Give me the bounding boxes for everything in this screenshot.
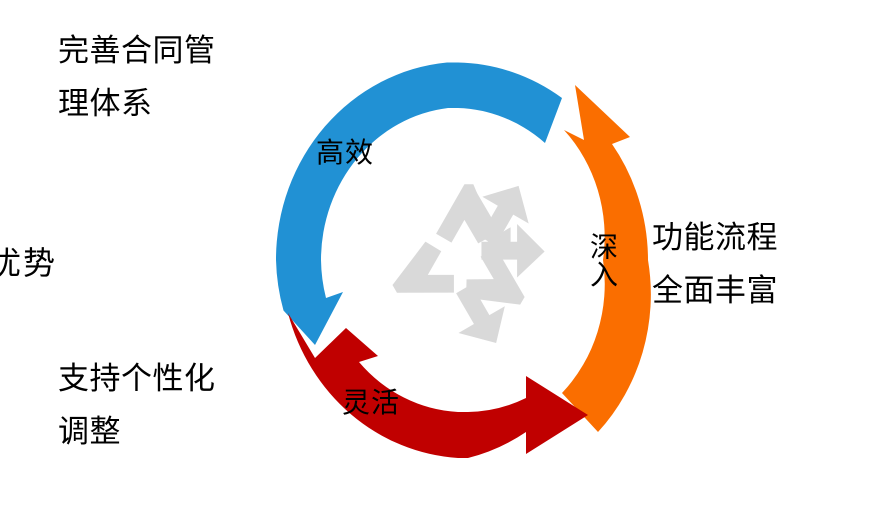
segment-label-blue: 高效 [316, 131, 374, 171]
callout-bottom-left-line-1: 支持个性化 [58, 352, 216, 405]
center-label-wrap: 优势 [0, 238, 872, 284]
callout-top-left-line-2: 理体系 [58, 77, 216, 130]
callout-bottom-left-line-2: 调整 [58, 405, 216, 458]
callout-top-left-line-1: 完善合同管 [58, 24, 216, 77]
segment-label-red: 灵活 [342, 381, 400, 421]
callout-top-left: 完善合同管 理体系 [58, 24, 216, 131]
center-label: 优势 [0, 245, 57, 281]
callout-bottom-left: 支持个性化 调整 [58, 352, 216, 459]
segment-red[interactable] [288, 313, 588, 458]
diagram-canvas: 完善合同管 理体系 支持个性化 调整 功能流程 全面丰富 [0, 0, 872, 511]
